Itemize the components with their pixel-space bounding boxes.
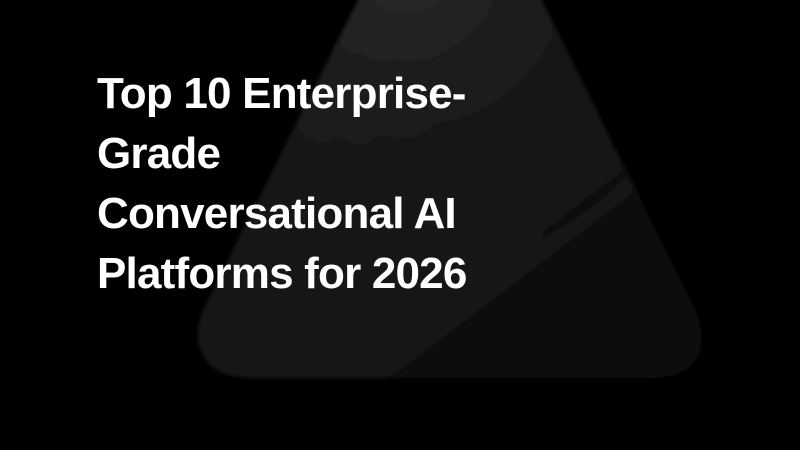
headline-block: Top 10 Enterprise- Grade Conversational … <box>97 64 717 304</box>
page-title: Top 10 Enterprise- Grade Conversational … <box>97 64 717 304</box>
cover-canvas: Top 10 Enterprise- Grade Conversational … <box>0 0 800 450</box>
